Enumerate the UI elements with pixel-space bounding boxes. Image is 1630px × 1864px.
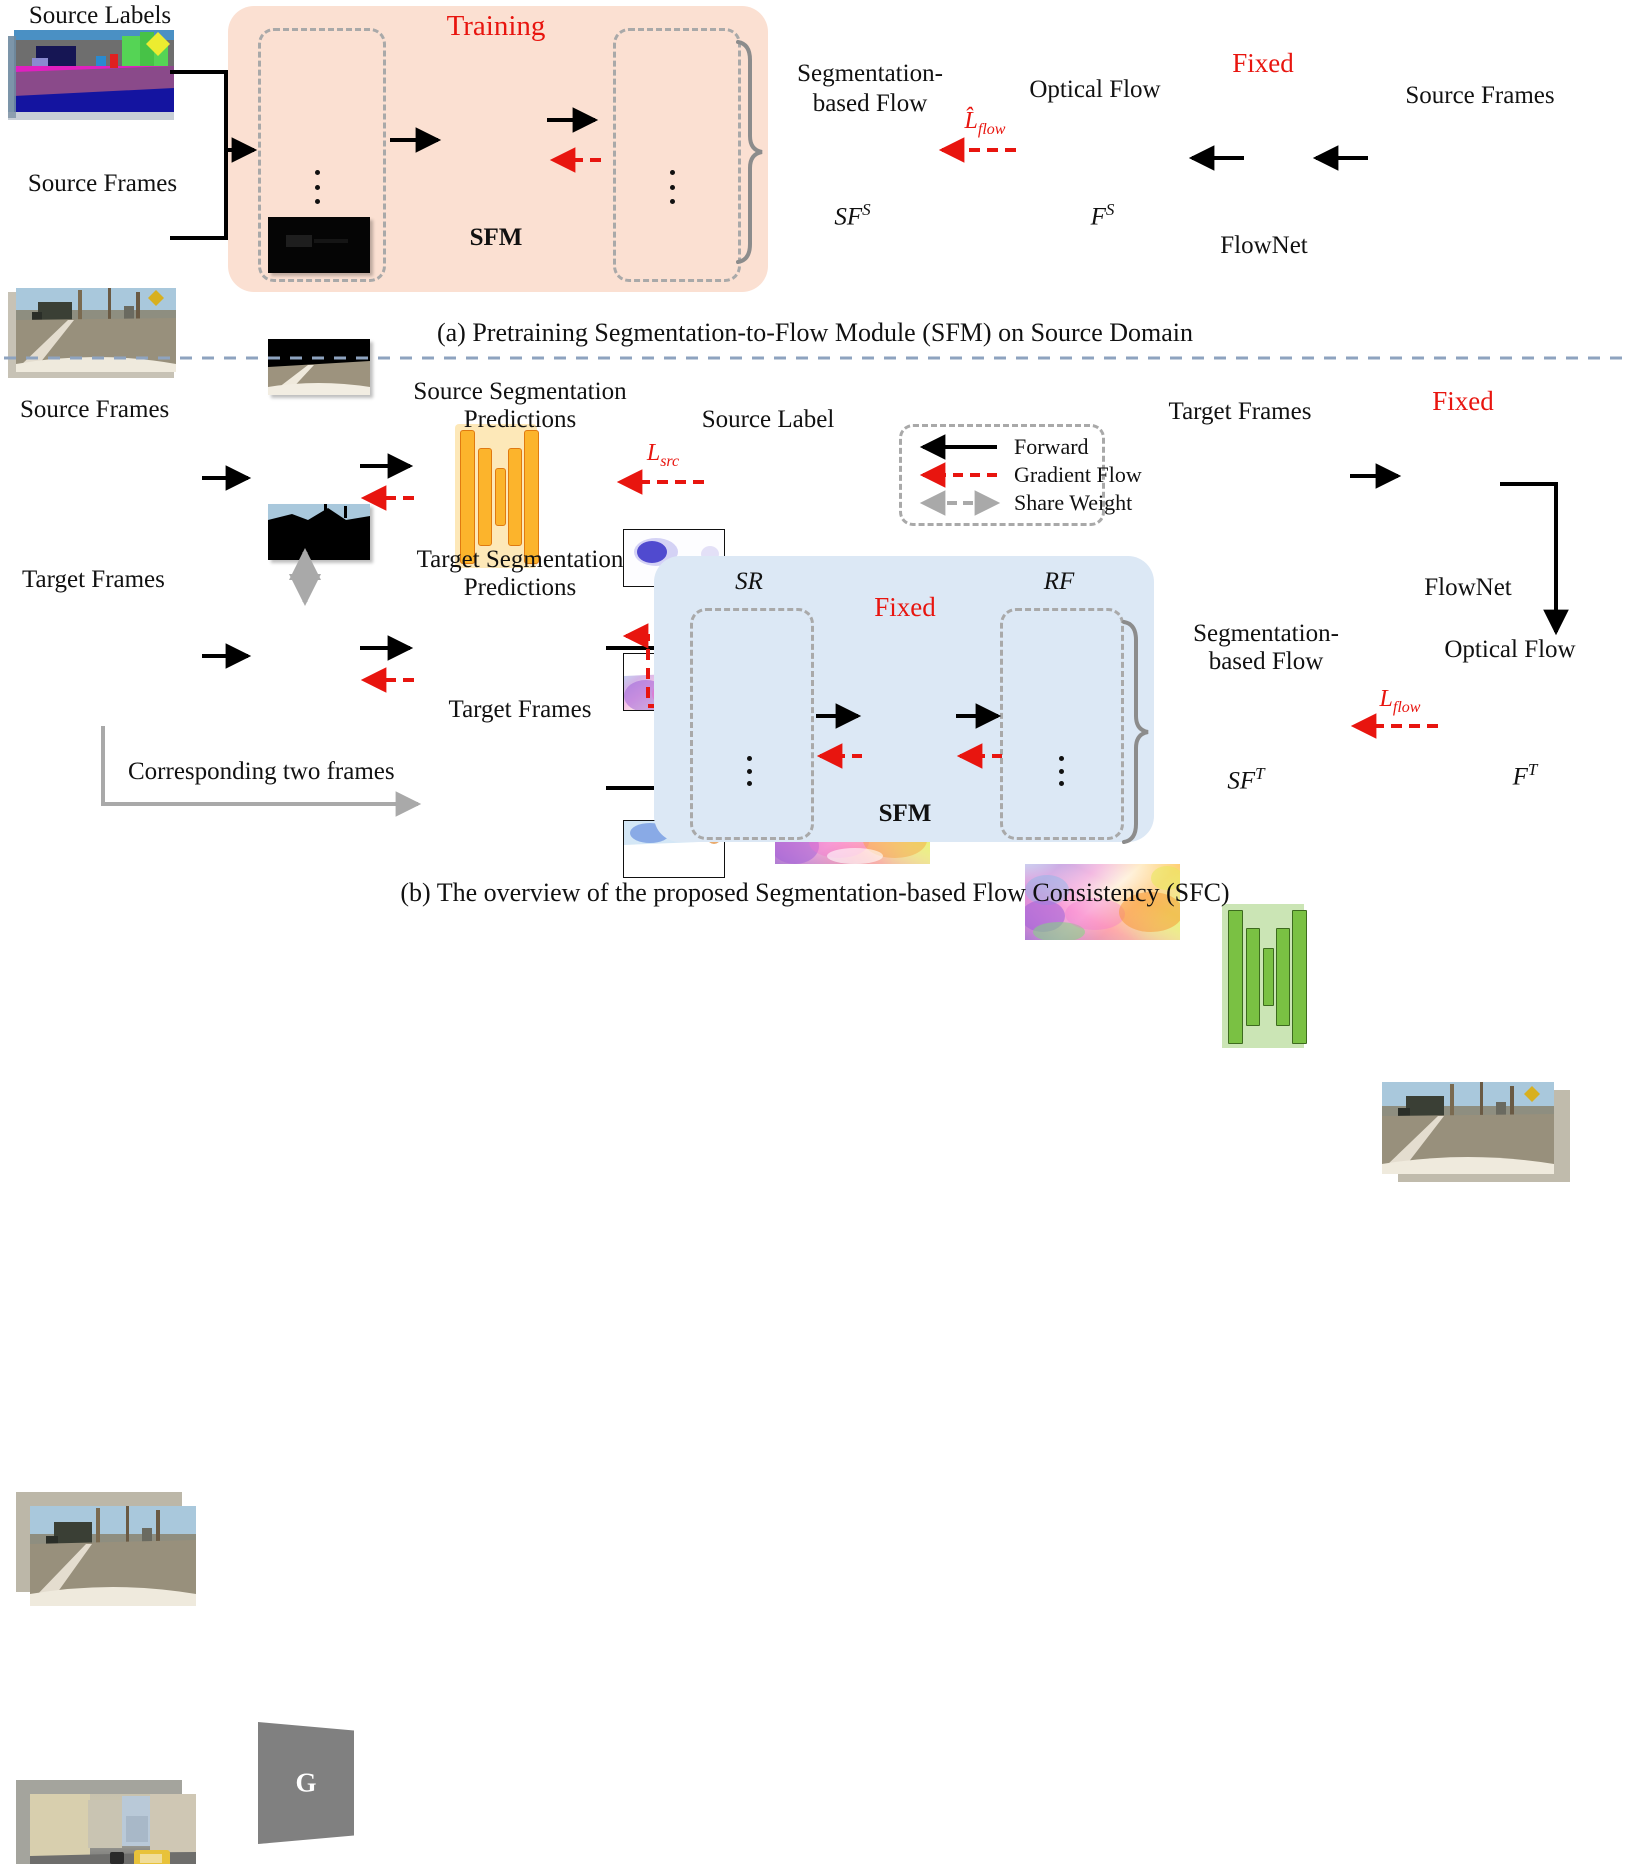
b-source-frames-title: Source Frames xyxy=(20,396,169,424)
flownet-block-a xyxy=(1222,904,1304,1048)
fixed-badge-a: Fixed xyxy=(1200,48,1326,79)
optical-flow-symbol-b-base: F xyxy=(1513,763,1528,790)
rf-ellipsis xyxy=(1058,756,1064,786)
panel-a-input-tile-3 xyxy=(268,504,370,560)
source-frames-to-g-arrow xyxy=(198,470,260,486)
target-seg-pred-line2: Predictions xyxy=(408,574,632,602)
b-source-frames-image-stack xyxy=(16,1492,202,1610)
optical-flow-symbol-a-base: F xyxy=(1091,203,1106,230)
loss-src-base: L xyxy=(647,440,660,466)
source-frames-right-title: Source Frames xyxy=(1380,82,1580,110)
legend-gradient-label: Gradient Flow xyxy=(1014,462,1142,488)
loss-flow-arrow-b xyxy=(1348,718,1444,734)
legend-share-label: Share Weight xyxy=(1014,490,1132,516)
panel-a-input-ellipsis xyxy=(314,170,320,204)
panel-b-caption: (b) The overview of the proposed Segment… xyxy=(0,878,1630,908)
optical-flow-symbol-b: FT xyxy=(1450,760,1600,791)
rf-dashed-box xyxy=(1000,608,1124,840)
source-seg-pred-line1: Source Segmentation xyxy=(410,378,630,406)
panel-a-brace xyxy=(736,40,766,264)
sr-ellipsis xyxy=(746,756,752,786)
seg-flow-symbol-b: SFT xyxy=(1170,764,1322,795)
flownet-fixed-badge-b: Fixed xyxy=(1400,386,1526,417)
training-badge: Training xyxy=(406,10,586,43)
loss-flow-b-sub: flow xyxy=(1393,699,1421,716)
generator-top: G xyxy=(258,1722,354,1844)
b-target-frames-right-title: Target Frames xyxy=(1140,398,1340,426)
legend-share-arrow xyxy=(913,496,1003,510)
panel-a-merge-arrow xyxy=(168,60,268,260)
flownet-to-optical-flow-elbow-b xyxy=(1498,482,1588,662)
optical-flow-title-a: Optical Flow xyxy=(1010,76,1180,104)
panel-a-output-ellipsis xyxy=(669,170,675,204)
seg-flow-title-b-line2: based Flow xyxy=(1166,648,1366,676)
loss-src-arrow xyxy=(614,474,710,490)
sfc-fixed-badge: Fixed xyxy=(838,592,972,623)
rf-gradient-to-sfm-arrow xyxy=(954,748,1010,764)
legend-forward-label: Forward xyxy=(1014,434,1089,460)
seg-flow-symbol-b-base: SF xyxy=(1227,767,1255,794)
target-frames-to-flownet-arrow xyxy=(1348,468,1410,484)
panel-a-gradient-arrow xyxy=(547,152,609,168)
legend-gradient-arrow xyxy=(913,468,1003,482)
seg-flow-symbol-b-sup: T xyxy=(1255,764,1264,783)
seg-flow-symbol-a-base: SF xyxy=(834,203,862,230)
sfm-label-b: SFM xyxy=(845,800,965,828)
target-frames-mid-title: Target Frames xyxy=(408,696,632,724)
panel-a-sfm-out-arrow xyxy=(547,112,609,128)
sr-dashed-box xyxy=(690,608,814,840)
target-frames-to-g-arrow xyxy=(198,648,260,664)
source-labels-image-stack xyxy=(8,30,180,120)
b-target-frames-left-image-stack xyxy=(16,1780,202,1864)
loss-flow-a-base: L̂ xyxy=(965,108,978,134)
source-label-title: Source Label xyxy=(678,406,858,434)
g-top-gradient-arrow xyxy=(358,490,424,506)
optical-flow-symbol-b-sup: T xyxy=(1528,760,1537,779)
source-labels-title: Source Labels xyxy=(10,2,190,30)
loss-flow-b-base: L xyxy=(1380,686,1393,712)
loss-flow-label-a: L̂flow xyxy=(930,108,1040,139)
target-seg-pred-line1: Target Segmentation xyxy=(408,546,632,574)
optical-flow-symbol-a: FS xyxy=(1025,200,1180,231)
rf-label: RF xyxy=(1000,568,1118,596)
rf-brace xyxy=(1122,620,1152,844)
panel-a-caption: (a) Pretraining Segmentation-to-Flow Mod… xyxy=(0,318,1630,348)
panel-a-input-tile-1 xyxy=(268,217,370,273)
flownet-to-flow-arrow-a xyxy=(1186,150,1252,166)
sfm-gradient-left-arrow xyxy=(814,748,870,764)
source-frames-right-image-stack xyxy=(1382,1082,1572,1186)
legend-forward-arrow xyxy=(913,440,1003,454)
corresponding-two-frames-label: Corresponding two frames xyxy=(128,758,395,786)
generator-top-label: G xyxy=(258,1768,354,1799)
panel-a-output-dashed-box xyxy=(613,28,741,282)
sfm-to-rf-arrow xyxy=(954,708,1010,724)
seg-flow-symbol-a: SFS xyxy=(775,200,930,231)
seg-flow-title-b-line1: Segmentation- xyxy=(1166,620,1366,648)
panel-divider xyxy=(0,356,1630,360)
g-bottom-forward-arrow xyxy=(358,640,424,656)
frames-to-flownet-arrow-a xyxy=(1310,150,1376,166)
g-top-forward-arrow xyxy=(358,458,424,474)
sr-to-sfm-arrow xyxy=(814,708,870,724)
b-target-frames-left-title: Target Frames xyxy=(22,566,165,594)
panel-a-sfm-in-arrow xyxy=(390,132,452,148)
flownet-label-a: FlowNet xyxy=(1204,232,1324,260)
loss-src-label: Lsrc xyxy=(618,440,708,471)
loss-src-sub: src xyxy=(660,453,679,470)
loss-flow-a-sub: flow xyxy=(978,121,1006,138)
seg-flow-symbol-a-sup: S xyxy=(862,200,871,219)
seg-flow-title-a-line1: Segmentation- xyxy=(770,60,970,88)
g-bottom-gradient-arrow xyxy=(358,672,424,688)
optical-flow-symbol-a-sup: S xyxy=(1106,200,1115,219)
loss-flow-label-b: Lflow xyxy=(1352,686,1448,717)
source-seg-pred-line2: Predictions xyxy=(410,406,630,434)
share-weight-arrow xyxy=(292,548,318,606)
sr-label: SR xyxy=(690,568,808,596)
optical-flow-title-b: Optical Flow xyxy=(1410,636,1610,664)
loss-flow-arrow-a xyxy=(936,142,1022,158)
sfm-label-a: SFM xyxy=(436,224,556,252)
